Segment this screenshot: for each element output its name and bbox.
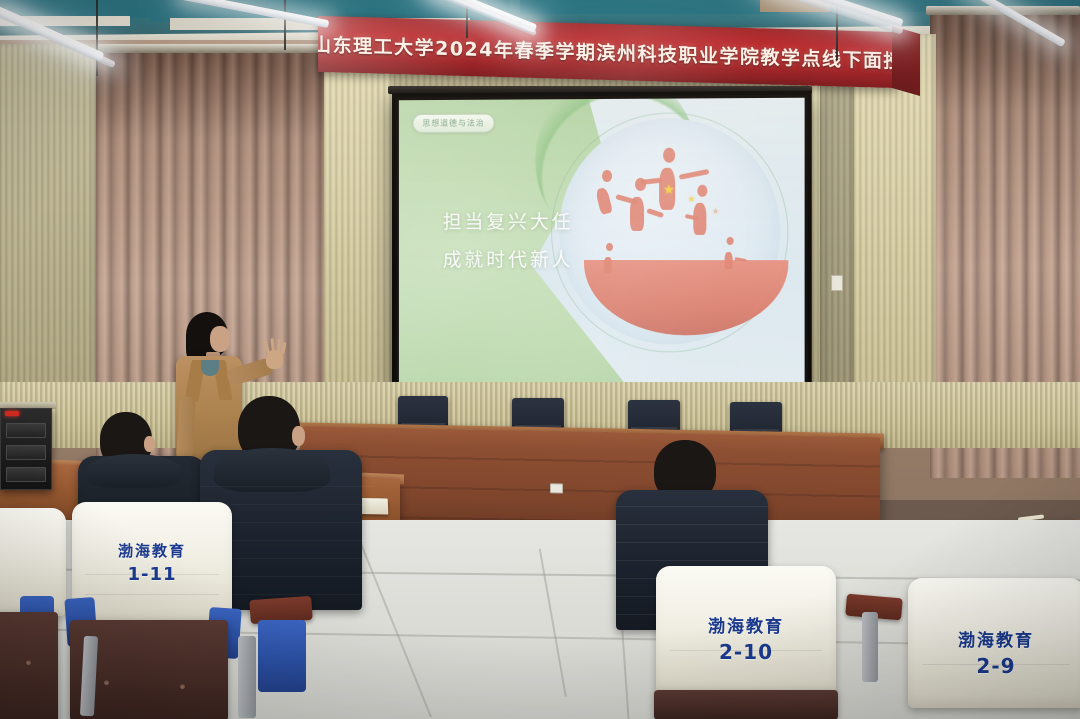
projection-screen: ★ ★ ★ 思想道德与法治 担当复兴大任 成就时代新人 <box>392 91 812 396</box>
av-amplifier-1[interactable] <box>6 423 46 438</box>
av-amplifier-2[interactable] <box>6 445 46 460</box>
seat-2-10-org: 渤海教育 <box>656 612 836 637</box>
seat-1-11-org: 渤海教育 <box>72 540 232 561</box>
seat-1-11-fold-2 <box>85 594 219 595</box>
light-switch[interactable] <box>831 275 843 291</box>
presenter-finger-2 <box>270 338 275 353</box>
seat-1-11-rivet-2 <box>180 684 185 689</box>
banner-title: 山东理工大学2024年春季学期滨州科技职业学院教学点线下面授 <box>318 30 898 74</box>
seat-1-11-label: 渤海教育 1-11 <box>72 540 232 585</box>
lecture-hall-photo: 山东理工大学2024年春季学期滨州科技职业学院教学点线下面授 <box>0 0 1080 719</box>
presenter-finger-4 <box>281 342 286 354</box>
light-stem-2 <box>284 0 286 50</box>
seat-2-10-back <box>654 690 838 719</box>
slide-star-3: ★ <box>712 208 719 216</box>
seat-leg-right <box>862 612 878 682</box>
banner-right-fold <box>892 26 920 96</box>
curtain-rail-left <box>92 44 328 53</box>
seat-2-10-number: 2-10 <box>656 640 836 664</box>
power-indicator-led <box>5 411 19 416</box>
presenter-finger-1 <box>263 340 269 353</box>
seat-partial-left[interactable] <box>0 508 66 719</box>
seat-divider-blue-left <box>258 620 306 692</box>
light-stem-1 <box>96 0 98 76</box>
seat-2-10[interactable]: 渤海教育 2-10 <box>648 566 844 719</box>
slide-figure-6-body <box>724 252 732 269</box>
slide-figure-6-head <box>726 237 733 245</box>
seat-2-9[interactable]: 渤海教育 2-9 <box>908 578 1080 719</box>
floor-grout-4 <box>539 549 567 697</box>
slide-figure-4-head <box>663 148 675 163</box>
seat-partial-left-back <box>0 612 58 719</box>
wall-outlet-2[interactable] <box>550 483 563 493</box>
seat-1-11[interactable]: 渤海教育 1-11 <box>62 502 242 719</box>
seat-1-11-number: 1-11 <box>72 564 232 585</box>
wall-panel-left-pillar <box>324 60 394 390</box>
attendee-left-hood <box>86 454 182 488</box>
seat-leg-center <box>238 636 256 718</box>
seat-partial-left-rivet <box>26 660 31 665</box>
slide-figure-2-body <box>604 257 612 273</box>
seat-1-11-rivet-1 <box>104 680 109 685</box>
av-amplifier-3[interactable] <box>6 467 46 482</box>
seat-2-9-number: 2-9 <box>908 654 1080 678</box>
attendee-center-ear <box>292 426 305 446</box>
slide-title: 担当复兴大任 成就时代新人 <box>443 203 574 279</box>
presenter-face <box>210 326 230 352</box>
attendee-left-ear <box>144 436 155 452</box>
seat-2-10-label: 渤海教育 2-10 <box>656 612 836 664</box>
slide-content: ★ ★ ★ 思想道德与法治 担当复兴大任 成就时代新人 <box>399 98 805 389</box>
presenter-collar <box>201 360 219 376</box>
slide-star-2: ★ <box>688 195 696 204</box>
slide-figure-1-head <box>602 170 612 182</box>
slide-figure-3-body <box>630 197 644 231</box>
slide-title-line2: 成就时代新人 <box>443 241 574 279</box>
slide-course-badge: 思想道德与法治 <box>413 114 495 133</box>
av-equipment-rack <box>0 408 52 490</box>
seat-2-9-org: 渤海教育 <box>908 626 1080 651</box>
slide-star-1: ★ <box>663 182 675 195</box>
seat-2-9-label: 渤海教育 2-9 <box>908 626 1080 678</box>
wall-panel-right <box>854 34 936 434</box>
slide-title-line1: 担当复兴大任 <box>443 203 574 241</box>
